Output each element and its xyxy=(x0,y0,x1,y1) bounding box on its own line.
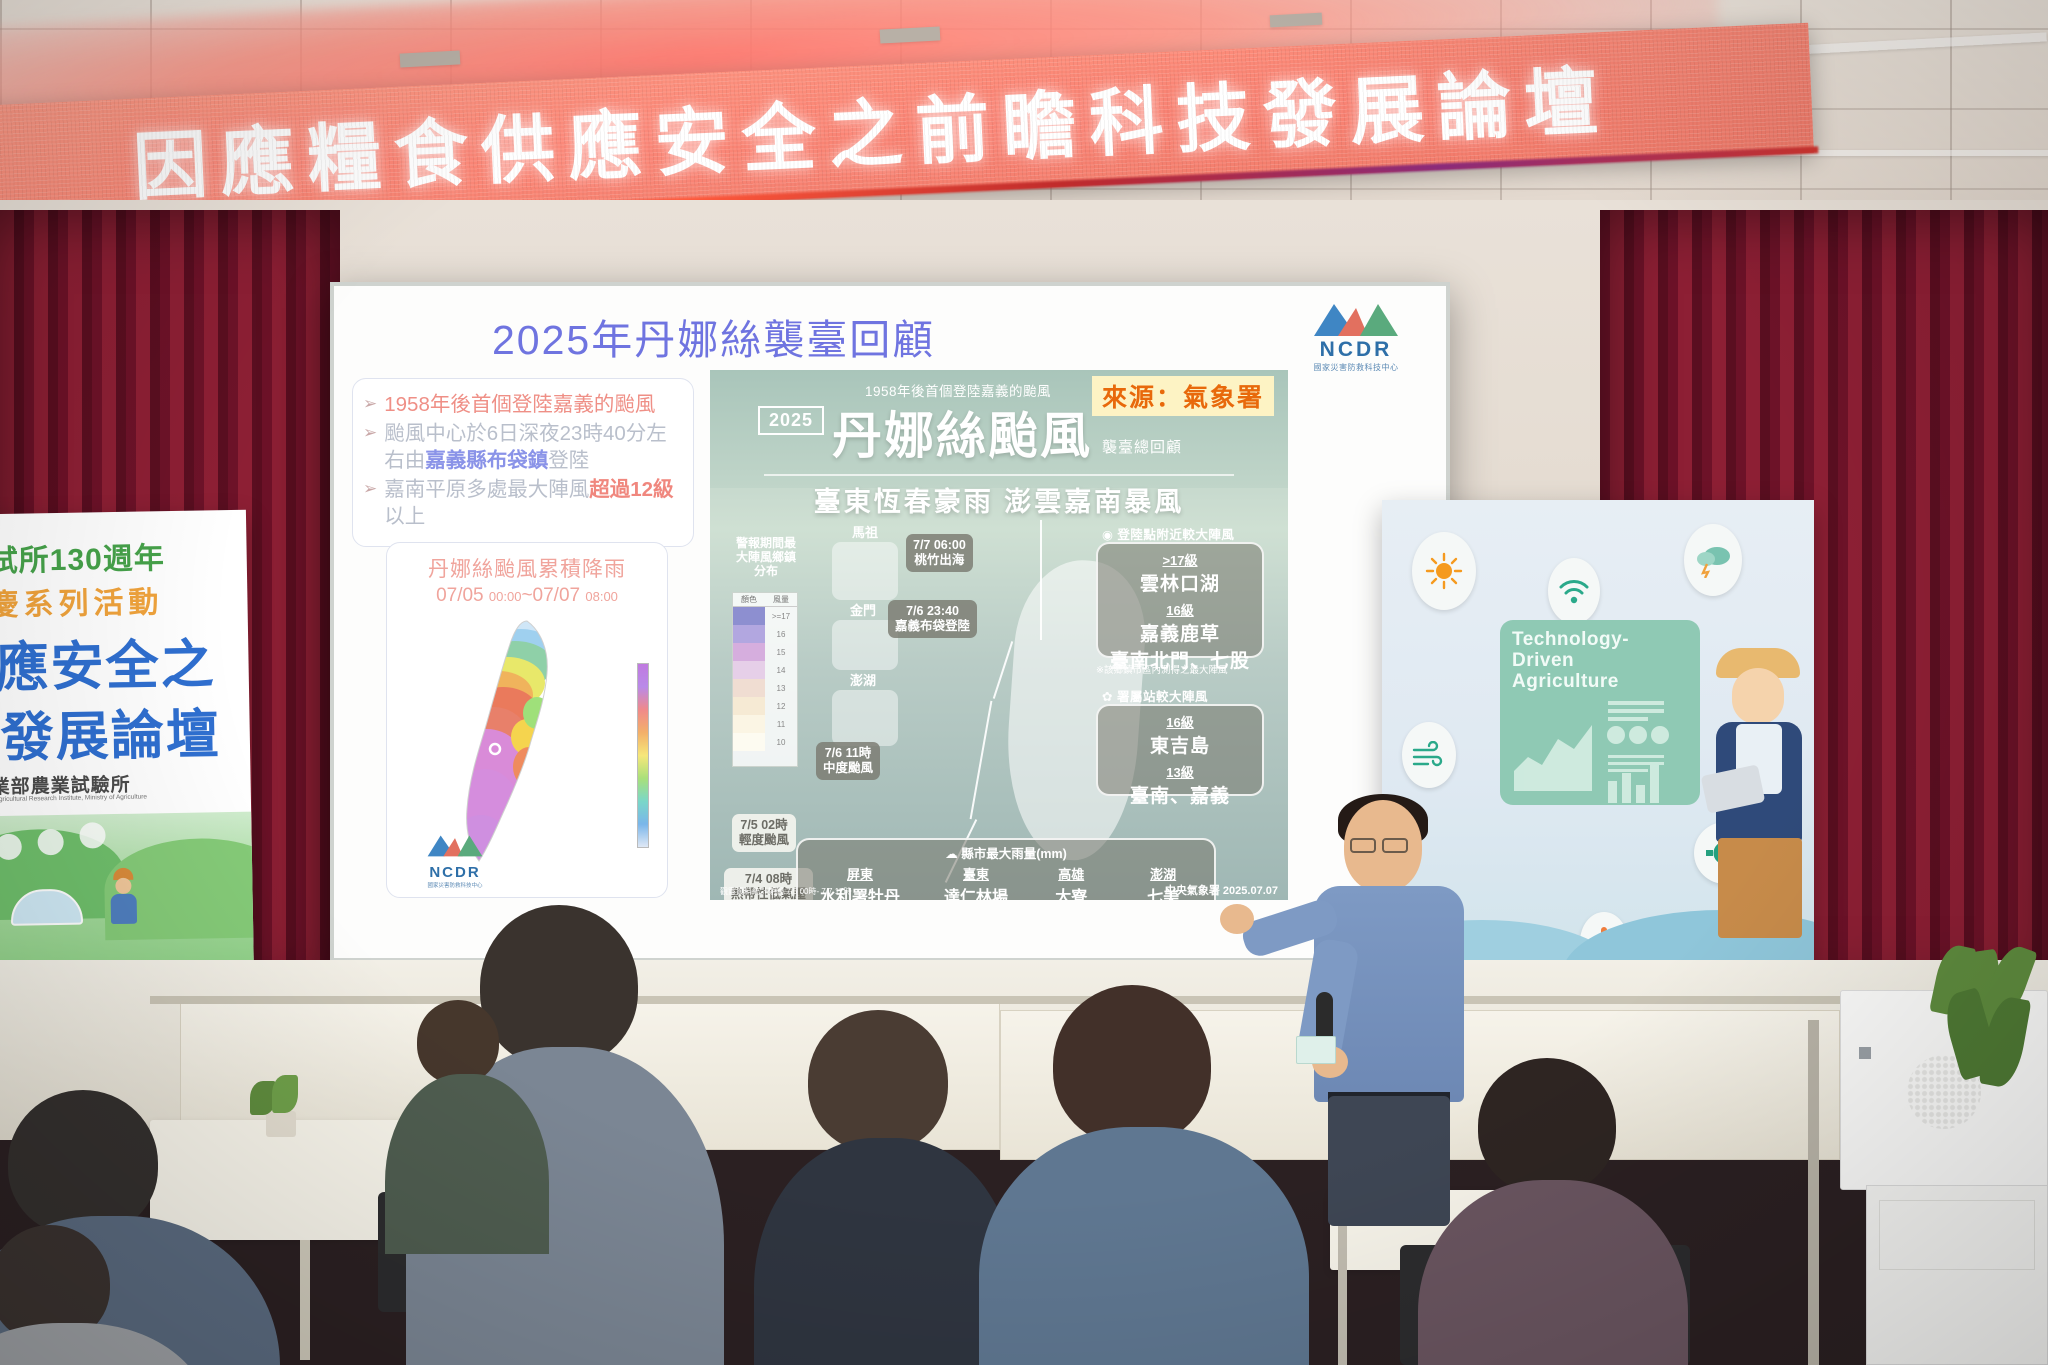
list-item: ➢ 颱風中心於6日深夜23時40分左右由嘉義縣布袋鎮登陸 xyxy=(363,420,683,474)
gust-place: 臺南、嘉義 xyxy=(1106,781,1254,808)
legend-header-value: 風量 xyxy=(765,593,797,607)
timeline-chip-3: 7/5 02時 輕度颱風 xyxy=(732,814,796,852)
ncdr-subtitle: 國家災害防救科技中心 xyxy=(1290,362,1422,373)
typhoon-track-line xyxy=(1040,520,1042,640)
projection-screen-frame: 2025年丹娜絲襲臺回顧 NCDR 國家災害防救科技中心 ➢ 1958年後首個登… xyxy=(330,282,1450,962)
presenter xyxy=(1300,800,1480,1220)
audience-member-7 xyxy=(0,1225,200,1365)
range-end-date: 07/07 xyxy=(533,585,581,606)
inset-map-penghu xyxy=(832,690,898,746)
legend-swatch xyxy=(733,697,765,715)
conference-room-scene: 因應糧食供應安全之前瞻科技發展論壇 2025年丹娜絲襲臺回顧 NCDR 國家災害… xyxy=(0,0,2048,1365)
legend-value: 15 xyxy=(765,648,797,657)
audience-head xyxy=(1053,985,1211,1145)
rain-station: 大寮 xyxy=(1052,883,1090,900)
microphone-flag xyxy=(1296,1036,1336,1064)
rain-city: 屏東 xyxy=(820,864,900,883)
cwa-header: 1958年後首個登陸嘉義的颱風 2025 丹娜絲颱風 襲臺總回顧 來源：氣象署 xyxy=(710,370,1288,488)
mountain-logo-icon xyxy=(418,829,492,859)
mountain-logo-icon xyxy=(1308,294,1404,340)
technology-agriculture-card: Technology-Driven Agriculture xyxy=(1500,620,1700,805)
cwa-name-suffix: 襲臺總回顧 xyxy=(1102,436,1182,457)
card-chart-graphics xyxy=(1512,699,1688,805)
audience-member-6 xyxy=(395,1000,535,1260)
rainfall-card-range: 07/05 00:00~07/07 08:00 xyxy=(387,585,667,607)
legend-value: 13 xyxy=(765,684,797,693)
cwa-map-body: 警報期間最大陣風鄉鎮分布 顏色 風量 >=17 16 15 14 13 12 1… xyxy=(710,520,1288,900)
list-item: ➢ 1958年後首個登陸嘉義的颱風 xyxy=(363,391,683,418)
standing-banner-left: 農試所130週年 新慶系列活動 供應安全之 技發展論壇 農業部農業試驗所 Tai… xyxy=(0,510,254,985)
range-end-time: 08:00 xyxy=(585,589,618,604)
gust-level: 16級 xyxy=(1106,600,1254,619)
bullet-text-highlight: 嘉義縣布袋鎮 xyxy=(425,449,548,472)
legend-value: >=17 xyxy=(765,612,797,621)
audience-member-4 xyxy=(995,985,1285,1365)
ncdr-subtitle: 國家災害防救科技中心 xyxy=(409,881,501,889)
legend-title: 警報期間最大陣風鄉鎮分布 xyxy=(734,536,798,578)
gust-landfall-header: ◉ 登陸點附近較大陣風 xyxy=(1102,524,1234,543)
gust-level: >17級 xyxy=(1106,550,1254,569)
bullet-arrow-icon: ➢ xyxy=(363,391,377,418)
banner-left-line1: 農試所130週年 xyxy=(0,533,165,581)
bullet-text-highlight: 超過12級 xyxy=(589,478,673,501)
gust-place: 東吉島 xyxy=(1106,731,1254,758)
audience-head xyxy=(8,1090,158,1236)
presenter-hand-right xyxy=(1220,904,1254,934)
audience-head xyxy=(1478,1058,1616,1194)
timeline-chip-0: 7/7 06:00 桃竹出海 xyxy=(906,534,973,572)
banner-left-line4: 技發展論壇 xyxy=(0,692,221,773)
banner-left-org-en: Taiwan Agricultural Research Institute, … xyxy=(0,793,147,803)
legend-row: 11 xyxy=(733,715,797,733)
legend-swatch xyxy=(733,607,765,625)
farmer-illustration xyxy=(1698,650,1814,950)
legend-header-row: 顏色 風量 xyxy=(733,593,797,607)
inset-label-matsu: 馬祖 xyxy=(820,522,910,541)
audience-member-3 xyxy=(760,1010,1010,1365)
cabinet-drawer[interactable] xyxy=(1879,1200,2035,1270)
timeline-chip-1: 7/6 23:40 嘉義布袋登陸 xyxy=(888,600,977,638)
legend-row: 10 xyxy=(733,733,797,751)
ncdr-wordmark: NCDR xyxy=(1290,338,1422,362)
bullet-text: 1958年後首個登陸嘉義的颱風 xyxy=(384,393,655,416)
timeline-event: 中度颱風 xyxy=(823,761,873,775)
gust-landfall-box: >17級 雲林口湖 16級 嘉義鹿草 臺南北門、七股 xyxy=(1096,542,1264,658)
audience-body xyxy=(754,1138,1016,1365)
timeline-time: 7/7 06:00 xyxy=(913,538,966,552)
cabinet-label xyxy=(1859,1047,1871,1059)
cwa-subtitle: 臺東恆春豪雨 澎雲嘉南暴風 xyxy=(710,480,1288,519)
lower-cabinet xyxy=(1866,1185,2048,1365)
legend-row: 14 xyxy=(733,661,797,679)
glasses-icon xyxy=(1350,838,1376,853)
rainfall-card: 丹娜絲颱風累積降雨 07/05 00:00~07/07 08:00 xyxy=(386,542,668,898)
cwa-infographic: 1958年後首個登陸嘉義的颱風 2025 丹娜絲颱風 襲臺總回顧 來源：氣象署 … xyxy=(710,370,1288,900)
range-start-date: 07/05 xyxy=(436,585,484,606)
cwa-typhoon-name: 丹娜絲颱風 xyxy=(832,396,1092,468)
bullet-text: 以上 xyxy=(384,505,425,528)
legend-header-color: 顏色 xyxy=(733,593,765,607)
timeline-event: 嘉義布袋登陸 xyxy=(895,619,970,633)
anemometer-icon: ✿ xyxy=(1102,690,1113,704)
banner-left-illustration xyxy=(0,812,254,985)
card-title-line1: Technology-Driven xyxy=(1512,630,1688,672)
cwa-header-rule xyxy=(764,474,1234,476)
audience-body xyxy=(385,1074,549,1254)
legend-swatch xyxy=(733,715,765,733)
banner-left-line2: 新慶系列活動 xyxy=(0,577,164,625)
typhoon-track-line xyxy=(993,641,1013,699)
cwa-credit-left: 觀實資料統計期間:7/5 00時- 7/7 17時 xyxy=(720,886,852,897)
wind-swirl-icon: ◉ xyxy=(1102,528,1113,542)
legend-swatch xyxy=(733,661,765,679)
timeline-time: 7/5 02時 xyxy=(740,818,787,832)
audience-head xyxy=(417,1000,499,1084)
legend-swatch xyxy=(733,625,765,643)
table-cell: 高雄 大寮 391 xyxy=(1052,864,1090,900)
slide-bullet-list: ➢ 1958年後首個登陸嘉義的颱風 ➢ 颱風中心於6日深夜23時40分左右由嘉義… xyxy=(352,378,694,547)
sun-icon xyxy=(1412,532,1476,610)
bullet-arrow-icon: ➢ xyxy=(363,476,377,530)
card-title-line2: Agriculture xyxy=(1512,672,1688,693)
range-start-time: 00:00 xyxy=(489,589,522,604)
rain-cloud-icon: ☁ xyxy=(945,847,958,861)
source-badge: 來源：氣象署 xyxy=(1092,376,1274,416)
max-rainfall-rows: 屏東 水利署牡丹 658 臺東 達仁林場 583 高雄 xyxy=(798,864,1214,900)
table-leg xyxy=(300,1240,310,1360)
legend-value: 14 xyxy=(765,666,797,675)
legend-value: 16 xyxy=(765,630,797,639)
rain-city: 澎湖 xyxy=(1134,864,1192,883)
gust-place: 嘉義鹿草 xyxy=(1106,619,1254,646)
timeline-time: 7/4 08時 xyxy=(745,872,792,886)
timeline-time: 7/6 11時 xyxy=(825,746,872,760)
audience-body xyxy=(0,1323,210,1365)
legend-row: 12 xyxy=(733,697,797,715)
banner-left-line3: 供應安全之 xyxy=(0,622,216,703)
ncdr-wordmark: NCDR xyxy=(409,864,501,881)
glasses-icon xyxy=(1382,838,1408,853)
farmer-figure xyxy=(106,868,141,935)
gust-landfall-footnote: ※該鄉鎮市區內測得之最大陣風 xyxy=(1096,662,1227,676)
wind-icon xyxy=(1402,722,1456,788)
ncdr-logo: NCDR 國家災害防救科技中心 xyxy=(1290,294,1422,373)
legend-value: 11 xyxy=(765,720,797,729)
max-rainfall-table-header: ☁ 縣市最大雨量(mm) xyxy=(798,843,1214,862)
max-rainfall-table: ☁ 縣市最大雨量(mm) 屏東 水利署牡丹 658 臺東 達仁林場 xyxy=(796,838,1216,900)
table-cell: 臺東 達仁林場 583 xyxy=(944,864,1008,900)
rainfall-card-ncdr-logo: NCDR 國家災害防救科技中心 xyxy=(409,829,501,889)
timeline-event: 輕度颱風 xyxy=(739,833,789,847)
timeline-time: 7/6 23:40 xyxy=(906,604,959,618)
rainfall-card-title: 丹娜絲颱風累積降雨 xyxy=(387,553,667,583)
projection-screen: 2025年丹娜絲襲臺回顧 NCDR 國家災害防救科技中心 ➢ 1958年後首個登… xyxy=(334,286,1446,958)
inset-map-matsu xyxy=(832,542,898,600)
bullet-text: 登陸 xyxy=(548,449,589,472)
legend-row: 16 xyxy=(733,625,797,643)
rain-station: 達仁林場 xyxy=(944,883,1008,900)
range-tilde: ~ xyxy=(521,585,532,606)
gust-stations-header: ✿ 署屬站較大陣風 xyxy=(1102,686,1208,705)
storm-cloud-icon xyxy=(1684,524,1742,596)
legend-row: 15 xyxy=(733,643,797,661)
cwa-year-badge: 2025 xyxy=(758,406,824,435)
cwa-credit-right: 中央氣象署 2025.07.07 xyxy=(1165,882,1278,898)
legend-value: 10 xyxy=(765,738,797,747)
list-item: ➢ 嘉南平原多處最大陣風超過12級以上 xyxy=(363,476,683,530)
audience-body xyxy=(979,1127,1309,1365)
gust-stations-box: 16級 東吉島 13級 臺南、嘉義 xyxy=(1096,704,1264,796)
timeline-chip-2: 7/6 11時 中度颱風 xyxy=(816,742,880,780)
timeline-event: 桃竹出海 xyxy=(914,553,964,567)
presenter-trousers xyxy=(1328,1096,1450,1226)
hanging-plant xyxy=(1930,945,2048,1095)
rainfall-colorbar xyxy=(637,663,649,848)
wifi-icon xyxy=(1548,558,1600,624)
typhoon-track-line xyxy=(970,701,993,820)
legend-value: 12 xyxy=(765,702,797,711)
legend-row: 13 xyxy=(733,679,797,697)
gust-legend: 顏色 風量 >=17 16 15 14 13 12 11 10 xyxy=(732,592,798,767)
vertical-post xyxy=(1808,1020,1819,1365)
bullet-text: 嘉南平原多處最大陣風 xyxy=(384,478,589,501)
legend-row: >=17 xyxy=(733,607,797,625)
gust-place: 雲林口湖 xyxy=(1106,569,1254,596)
inset-label-penghu: 澎湖 xyxy=(818,670,908,689)
bullet-arrow-icon: ➢ xyxy=(363,420,377,474)
legend-swatch xyxy=(733,643,765,661)
legend-swatch xyxy=(733,733,765,751)
gust-level: 16級 xyxy=(1106,712,1254,731)
gust-level: 13級 xyxy=(1106,762,1254,781)
audience-head xyxy=(808,1010,948,1152)
rain-city: 高雄 xyxy=(1052,864,1090,883)
legend-swatch xyxy=(733,679,765,697)
rain-city: 臺東 xyxy=(944,864,1008,883)
slide-title: 2025年丹娜絲襲臺回顧 xyxy=(492,306,935,366)
